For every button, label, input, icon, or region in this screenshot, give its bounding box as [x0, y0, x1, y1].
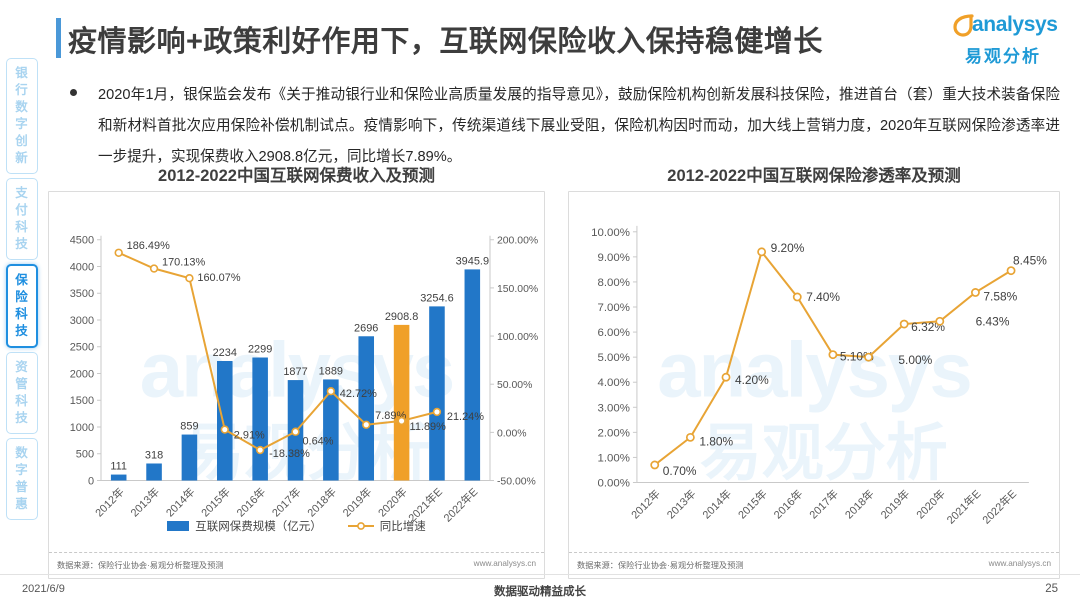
y-tick-label: 8.00%: [598, 277, 630, 289]
y-tick-label-left: 1500: [70, 395, 94, 407]
y-tick-label: 1.00%: [598, 452, 630, 464]
rail-tab-char: 数: [9, 99, 35, 116]
slide-header: 疫情影响+政策利好作用下，互联网保险收入保持稳健增长 analysys 易观分析: [0, 0, 1080, 72]
line-point-3: [758, 248, 765, 255]
rail-tab-0[interactable]: 银行数字创新: [6, 58, 38, 174]
x-tick-label-4: 2016年: [233, 485, 268, 520]
y-tick-label: 3.00%: [598, 402, 630, 414]
line-point-4: [794, 293, 801, 300]
legend-swatch-line: [348, 521, 374, 531]
line-point-0: [115, 249, 122, 256]
rail-tab-3[interactable]: 资管科技: [6, 352, 38, 434]
line-label-4: 7.40%: [806, 290, 840, 304]
source-site-left: www.analysys.cn: [474, 559, 536, 568]
line-label-1: 170.13%: [162, 257, 205, 269]
y-tick-label-left: 2000: [70, 368, 94, 380]
y-tick-label-left: 1000: [70, 422, 94, 434]
rail-tab-char: 保: [10, 272, 34, 289]
x-tick-label-5: 2017年: [269, 485, 304, 520]
line-label-9: 21.24%: [447, 411, 484, 423]
rail-tab-char: 技: [9, 410, 35, 427]
line-point-9: [434, 409, 441, 416]
x-tick-label-10: 2022年E: [979, 487, 1019, 527]
chart-box-right: analysys 易观分析 0.00%1.00%2.00%3.00%4.00%5…: [568, 191, 1060, 579]
y-tick-label-right: 50.00%: [497, 380, 532, 391]
rail-tab-2[interactable]: 保险科技: [6, 264, 38, 348]
line-label-6: 42.72%: [340, 388, 377, 400]
bar-label-3: 2234: [213, 347, 237, 359]
line-label-8: 11.89%: [410, 421, 447, 433]
line-label-0: 186.49%: [127, 240, 170, 252]
rail-tab-char: 数: [9, 445, 35, 462]
bar-9: [429, 306, 445, 480]
line-label-5: 0.64%: [302, 436, 333, 448]
x-tick-label-7: 2019年: [877, 487, 912, 522]
line-label-4: -18.38%: [269, 448, 310, 460]
x-tick-label-6: 2018年: [304, 485, 339, 520]
y-tick-label: 5.00%: [598, 352, 630, 364]
logo-wordmark-row: analysys: [944, 12, 1062, 40]
y-tick-label: 4.00%: [598, 377, 630, 389]
line-label-2: 160.07%: [197, 272, 240, 284]
bar-8: [394, 325, 410, 481]
slide-footer: 2021/6/9 数据驱动精益成长 25: [0, 574, 1080, 608]
line-point-2: [722, 374, 729, 381]
y-tick-label: 10.00%: [591, 227, 630, 239]
rail-tab-char: 管: [9, 376, 35, 393]
line-point-0: [651, 461, 658, 468]
rail-tab-char: 技: [10, 323, 34, 340]
chart-title-right: 2012-2022中国互联网保险渗透率及预测: [568, 165, 1060, 191]
y-tick-label-right: 100.00%: [497, 332, 538, 343]
rail-tab-char: 科: [10, 306, 34, 323]
x-tick-label-9: 2021年E: [944, 487, 984, 527]
bar-label-7: 2696: [354, 322, 378, 334]
line-point-8: [936, 318, 943, 325]
line-point-5: [292, 428, 299, 435]
rail-tab-1[interactable]: 支付科技: [6, 178, 38, 260]
rail-tab-char: 资: [9, 359, 35, 376]
line-point-2: [186, 275, 193, 282]
x-tick-label-8: 2020年: [913, 487, 948, 522]
line-point-4: [257, 447, 264, 454]
line-point-9: [972, 289, 979, 296]
rail-tab-char: 惠: [9, 496, 35, 513]
line-point-8: [398, 418, 405, 425]
bullet-dot-icon: [70, 89, 77, 96]
line-label-2: 4.20%: [735, 373, 769, 387]
bar-0: [111, 475, 127, 481]
line-point-7: [901, 320, 908, 327]
bar-label-8: 2908.8: [385, 311, 418, 323]
line-label-1: 1.80%: [699, 434, 733, 448]
legend-label-bar: 互联网保费规模（亿元）: [195, 518, 322, 534]
bar-2: [182, 435, 198, 481]
rail-tab-char: 创: [9, 133, 35, 150]
y-tick-label-left: 2500: [70, 342, 94, 354]
line-label-6: 5.00%: [898, 353, 932, 367]
bullet-block: 2020年1月，银保监会发布《关于推动银行业和保险业高质量发展的指导意见》，鼓励…: [70, 80, 1060, 173]
rail-tab-char: 险: [10, 289, 34, 306]
chart-legend-left: 互联网保费规模（亿元） 同比增速: [49, 518, 544, 534]
rail-tab-char: 普: [9, 479, 35, 496]
y-tick-label-left: 0: [88, 475, 94, 487]
line-point-3: [221, 426, 228, 433]
x-tick-label-0: 2012年: [92, 485, 127, 520]
bullet-paragraph: 2020年1月，银保监会发布《关于推动银行业和保险业高质量发展的指导意见》，鼓励…: [98, 80, 1060, 173]
line-label-3: 9.20%: [771, 241, 805, 255]
line-label-10: 8.45%: [1013, 254, 1047, 268]
line-point-5: [829, 351, 836, 358]
rail-tab-char: 行: [9, 82, 35, 99]
x-tick-label-2: 2014年: [163, 485, 198, 520]
x-tick-label-1: 2013年: [127, 485, 162, 520]
legend-item-line: 同比增速: [348, 518, 426, 534]
x-tick-label-8: 2020年: [375, 485, 410, 520]
line-point-7: [363, 421, 370, 428]
x-tick-label-4: 2016年: [771, 487, 806, 522]
y-tick-label-left: 4000: [70, 261, 94, 273]
line-chart-right: 0.00%1.00%2.00%3.00%4.00%5.00%6.00%7.00%…: [569, 192, 1059, 578]
footer-page-number: 25: [1045, 583, 1058, 595]
footer-tagline: 数据驱动精益成长: [0, 583, 1080, 599]
legend-item-bars: 互联网保费规模（亿元）: [167, 518, 322, 534]
line-point-1: [151, 265, 158, 272]
footer-divider: [0, 574, 1080, 575]
section-rail: 银行数字创新支付科技保险科技资管科技数字普惠: [6, 58, 40, 558]
bar-label-5: 1877: [283, 366, 307, 378]
y-tick-label: 2.00%: [598, 427, 630, 439]
rail-tab-char: 字: [9, 116, 35, 133]
chart-panel-left: 2012-2022中国互联网保费收入及预测 analysys 易观分析 0500…: [48, 165, 545, 579]
rail-tab-4[interactable]: 数字普惠: [6, 438, 38, 520]
y-tick-label-left: 3500: [70, 288, 94, 300]
x-tick-label-2: 2014年: [699, 487, 734, 522]
y-tick-label-right: 0.00%: [497, 428, 527, 439]
x-tick-label-5: 2017年: [806, 487, 841, 522]
line-label-0: 0.70%: [663, 464, 697, 478]
rail-tab-char: 付: [9, 202, 35, 219]
rail-tab-char: 银: [9, 65, 35, 82]
bar-label-10: 3945.9: [456, 255, 489, 267]
rail-tab-char: 科: [9, 219, 35, 236]
line-point-1: [687, 434, 694, 441]
chart-title-left: 2012-2022中国互联网保费收入及预测: [48, 165, 545, 191]
line-point-6: [327, 388, 334, 395]
page-title: 疫情影响+政策利好作用下，互联网保险收入保持稳健增长: [68, 18, 823, 60]
x-tick-label-0: 2012年: [628, 487, 663, 522]
line-label-9: 7.58%: [983, 289, 1017, 303]
y-tick-label: 7.00%: [598, 302, 630, 314]
rail-tab-char: 支: [9, 185, 35, 202]
line-point-10: [1007, 267, 1014, 274]
slide-page: 疫情影响+政策利好作用下，互联网保险收入保持稳健增长 analysys 易观分析…: [0, 0, 1080, 608]
bar-label-9: 3254.6: [420, 292, 453, 304]
y-tick-label-left: 3000: [70, 315, 94, 327]
chart-box-left: analysys 易观分析 05001000150020002500300035…: [48, 191, 545, 579]
rail-tab-char: 科: [9, 393, 35, 410]
y-tick-label-left: 500: [76, 449, 94, 461]
x-tick-label-3: 2015年: [735, 487, 770, 522]
x-tick-label-7: 2019年: [339, 485, 374, 520]
x-tick-label-3: 2015年: [198, 485, 233, 520]
bar-label-0: 111: [110, 461, 127, 473]
legend-swatch-bar: [167, 521, 189, 531]
y-tick-label: 0.00%: [598, 477, 630, 489]
rail-tab-char: 字: [9, 462, 35, 479]
title-accent-bar: [56, 18, 61, 58]
line-label-3: 2.91%: [234, 430, 265, 442]
logo-wordmark: analysys: [972, 13, 1058, 37]
y-tick-label-right: -50.00%: [497, 476, 536, 487]
source-text-left: 数据来源：保险行业协会·易观分析整理及预测: [57, 559, 223, 571]
logo-chinese-name: 易观分析: [944, 42, 1062, 67]
y-tick-label-left: 4500: [70, 235, 94, 247]
bar-10: [465, 269, 481, 480]
y-tick-label: 6.00%: [598, 327, 630, 339]
rail-tab-char: 新: [9, 150, 35, 167]
bar-7: [358, 336, 374, 480]
y-tick-label: 9.00%: [598, 252, 630, 264]
y-tick-label-right: 200.00%: [497, 236, 538, 247]
rail-tab-char: 技: [9, 236, 35, 253]
source-site-right: www.analysys.cn: [989, 559, 1051, 568]
analysys-logo: analysys 易观分析: [944, 12, 1062, 64]
bar-label-1: 318: [145, 450, 163, 462]
x-tick-label-1: 2013年: [664, 487, 699, 522]
line-label-8: 6.43%: [976, 314, 1010, 328]
legend-label-line: 同比增速: [380, 518, 426, 534]
bar-1: [146, 463, 162, 480]
chart-panel-right: 2012-2022中国互联网保险渗透率及预测 analysys 易观分析 0.0…: [568, 165, 1060, 579]
y-tick-label-right: 150.00%: [497, 284, 538, 295]
bar-label-4: 2299: [248, 344, 272, 356]
line-point-6: [865, 354, 872, 361]
x-tick-label-6: 2018年: [842, 487, 877, 522]
bar-label-2: 859: [180, 421, 198, 433]
bar-4: [252, 358, 268, 481]
source-text-right: 数据来源：保险行业协会·易观分析整理及预测: [577, 559, 743, 571]
bar-3: [217, 361, 233, 481]
bar-label-6: 1889: [319, 365, 343, 377]
